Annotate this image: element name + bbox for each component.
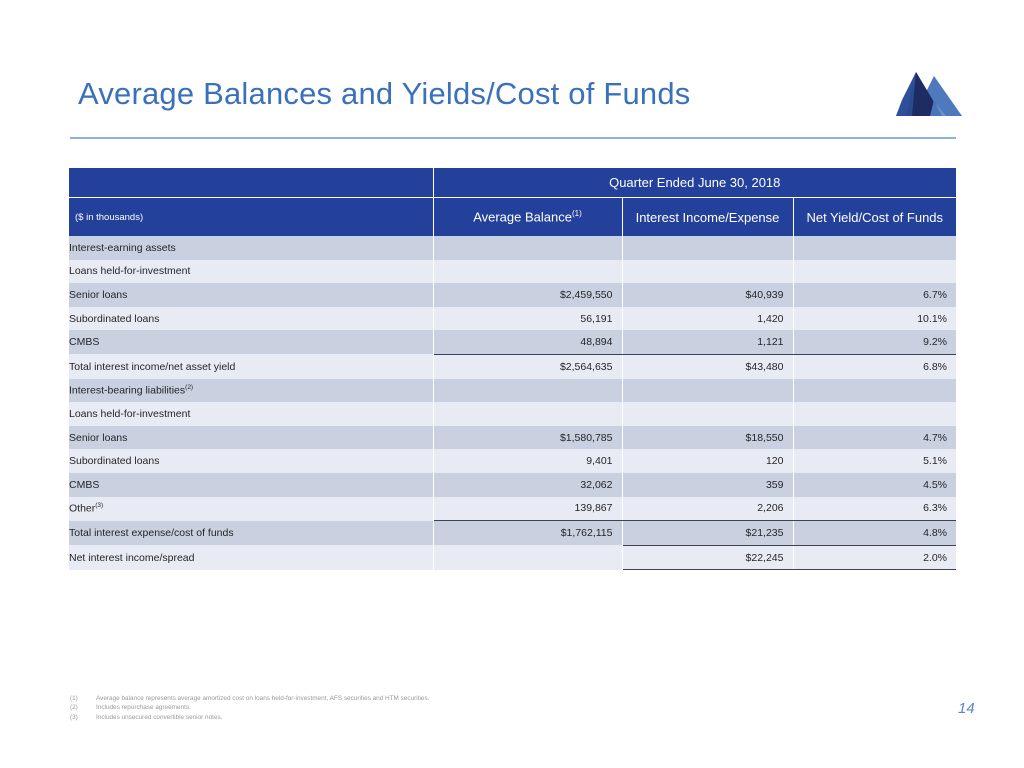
cell-interest-income-expense: $22,245: [622, 545, 793, 570]
cell-average-balance: 56,191: [433, 307, 622, 331]
page-number: 14: [958, 700, 975, 717]
cell-average-balance: [433, 260, 622, 284]
table-row: Loans held-for-investment: [69, 260, 956, 284]
cell-average-balance: 48,894: [433, 330, 622, 354]
footnote-text: Average balance represents average amort…: [96, 694, 670, 703]
footnote-item: (3)Includes unsecured convertible senior…: [70, 713, 670, 722]
table-row: Interest-earning assets: [69, 236, 956, 260]
cell-net-yield-cost-of-funds: 6.7%: [793, 283, 956, 307]
cell-average-balance: [433, 545, 622, 570]
table-row: CMBS48,8941,1219.2%: [69, 330, 956, 354]
header-corner-cell: [69, 168, 433, 198]
row-label: Total interest expense/cost of funds: [69, 521, 433, 546]
cell-net-yield-cost-of-funds: 9.2%: [793, 330, 956, 354]
cell-average-balance: [433, 379, 622, 403]
cell-net-yield-cost-of-funds: 4.8%: [793, 521, 956, 546]
cell-interest-income-expense: 1,121: [622, 330, 793, 354]
header-average-balance: Average Balance(1): [433, 198, 622, 237]
footnote-mark: (3): [70, 713, 96, 722]
cell-net-yield-cost-of-funds: [793, 379, 956, 403]
table-header-span-row: Quarter Ended June 30, 2018: [69, 168, 956, 198]
table-row: Loans held-for-investment: [69, 402, 956, 426]
row-label: Total interest income/net asset yield: [69, 354, 433, 378]
cell-interest-income-expense: [622, 260, 793, 284]
cell-net-yield-cost-of-funds: 4.5%: [793, 473, 956, 497]
row-label: Loans held-for-investment: [69, 402, 433, 426]
cell-interest-income-expense: [622, 379, 793, 403]
header-units-label: ($ in thousands): [69, 198, 433, 237]
footnotes: (1)Average balance represents average am…: [70, 694, 670, 722]
table-row: Subordinated loans56,1911,42010.1%: [69, 307, 956, 331]
table-row: Subordinated loans9,4011205.1%: [69, 449, 956, 473]
cell-interest-income-expense: [622, 402, 793, 426]
table-row: Total interest expense/cost of funds$1,7…: [69, 521, 956, 546]
cell-net-yield-cost-of-funds: 2.0%: [793, 545, 956, 570]
cell-interest-income-expense: [622, 236, 793, 260]
cell-interest-income-expense: 359: [622, 473, 793, 497]
footnote-item: (2)Includes repurchase agreements.: [70, 703, 670, 712]
row-label-footnote-mark: (2): [185, 384, 193, 391]
cell-average-balance: [433, 402, 622, 426]
footnote-mark: (1): [70, 694, 96, 703]
cell-interest-income-expense: 120: [622, 449, 793, 473]
row-label: CMBS: [69, 473, 433, 497]
cell-net-yield-cost-of-funds: 6.3%: [793, 497, 956, 521]
header-average-balance-footnote-mark: (1): [572, 209, 582, 218]
cell-average-balance: $2,564,635: [433, 354, 622, 378]
row-label: Senior loans: [69, 283, 433, 307]
cell-net-yield-cost-of-funds: [793, 260, 956, 284]
cell-interest-income-expense: $18,550: [622, 426, 793, 450]
cell-average-balance: 9,401: [433, 449, 622, 473]
row-label: Net interest income/spread: [69, 545, 433, 570]
cell-net-yield-cost-of-funds: 4.7%: [793, 426, 956, 450]
table-row: Senior loans$1,580,785$18,5504.7%: [69, 426, 956, 450]
row-label-footnote-mark: (3): [95, 502, 103, 509]
row-label: CMBS: [69, 330, 433, 354]
cell-net-yield-cost-of-funds: 6.8%: [793, 354, 956, 378]
row-label: Subordinated loans: [69, 449, 433, 473]
table-header-columns-row: ($ in thousands) Average Balance(1) Inte…: [69, 198, 956, 237]
table-row: Net interest income/spread$22,2452.0%: [69, 545, 956, 570]
mountain-logo: [890, 70, 962, 120]
title-divider: [70, 137, 956, 139]
cell-average-balance: $2,459,550: [433, 283, 622, 307]
header-average-balance-text: Average Balance: [473, 210, 572, 225]
cell-net-yield-cost-of-funds: 5.1%: [793, 449, 956, 473]
table-row: CMBS32,0623594.5%: [69, 473, 956, 497]
cell-net-yield-cost-of-funds: 10.1%: [793, 307, 956, 331]
cell-average-balance: $1,580,785: [433, 426, 622, 450]
header-period-label: Quarter Ended June 30, 2018: [433, 168, 956, 198]
table-row: Other(3)139,8672,2066.3%: [69, 497, 956, 521]
row-label: Subordinated loans: [69, 307, 433, 331]
footnote-text: Includes repurchase agreements.: [96, 703, 670, 712]
cell-net-yield-cost-of-funds: [793, 402, 956, 426]
cell-interest-income-expense: 2,206: [622, 497, 793, 521]
header-net-yield-cost-of-funds: Net Yield/Cost of Funds: [793, 198, 956, 237]
cell-net-yield-cost-of-funds: [793, 236, 956, 260]
cell-interest-income-expense: 1,420: [622, 307, 793, 331]
row-label: Other(3): [69, 497, 433, 521]
header-interest-income-expense: Interest Income/Expense: [622, 198, 793, 237]
footnote-mark: (2): [70, 703, 96, 712]
table-row: Total interest income/net asset yield$2,…: [69, 354, 956, 378]
financial-table: Quarter Ended June 30, 2018 ($ in thousa…: [69, 168, 956, 570]
table-row: Interest-bearing liabilities(2): [69, 379, 956, 403]
cell-interest-income-expense: $21,235: [622, 521, 793, 546]
footnote-text: Includes unsecured convertible senior no…: [96, 713, 670, 722]
row-label: Interest-earning assets: [69, 236, 433, 260]
row-label: Loans held-for-investment: [69, 260, 433, 284]
row-label: Interest-bearing liabilities(2): [69, 379, 433, 403]
table-row: Senior loans$2,459,550$40,9396.7%: [69, 283, 956, 307]
cell-interest-income-expense: $40,939: [622, 283, 793, 307]
cell-average-balance: $1,762,115: [433, 521, 622, 546]
cell-average-balance: 32,062: [433, 473, 622, 497]
slide-header: Average Balances and Yields/Cost of Fund…: [0, 0, 1024, 145]
cell-average-balance: 139,867: [433, 497, 622, 521]
table-body: Interest-earning assetsLoans held-for-in…: [69, 236, 956, 570]
footnote-item: (1)Average balance represents average am…: [70, 694, 670, 703]
table-head: Quarter Ended June 30, 2018 ($ in thousa…: [69, 168, 956, 236]
cell-interest-income-expense: $43,480: [622, 354, 793, 378]
cell-average-balance: [433, 236, 622, 260]
row-label: Senior loans: [69, 426, 433, 450]
page-title: Average Balances and Yields/Cost of Fund…: [78, 76, 691, 112]
